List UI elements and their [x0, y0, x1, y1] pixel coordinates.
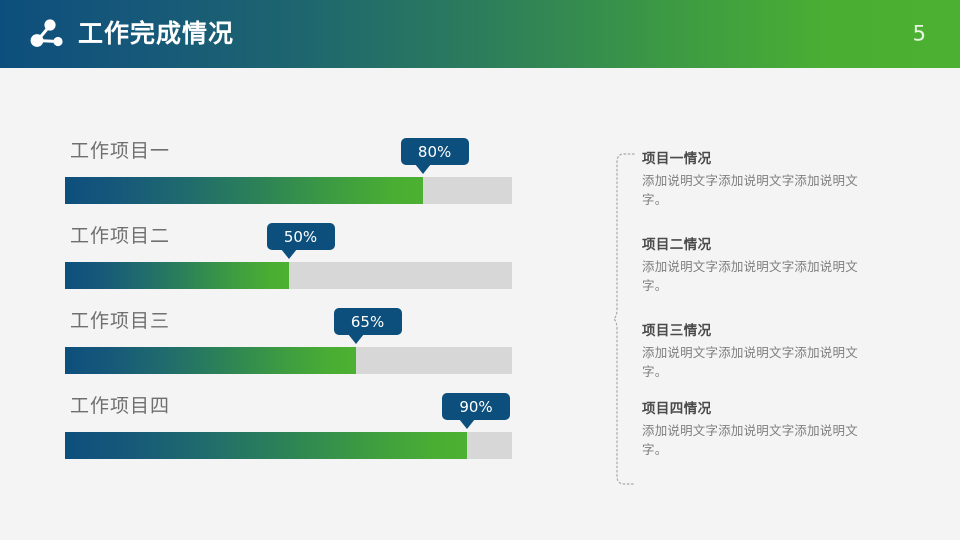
note-title: 项目四情况	[642, 402, 904, 417]
progress-bar-label: 工作项目一	[70, 142, 170, 161]
progress-bar-list: 工作项目一80%工作项目二50%工作项目三65%工作项目四90%	[65, 136, 512, 476]
note-body: 添加说明文字添加说明文字添加说明文字。	[642, 422, 882, 461]
note-item: 项目一情况添加说明文字添加说明文字添加说明文字。	[642, 152, 904, 211]
progress-value-badge-tail	[459, 419, 475, 429]
note-body: 添加说明文字添加说明文字添加说明文字。	[642, 258, 882, 297]
progress-value-badge-tail	[281, 249, 297, 259]
note-item: 项目三情况添加说明文字添加说明文字添加说明文字。	[642, 324, 904, 383]
page-number: 5	[913, 24, 926, 45]
progress-bar-fill	[65, 177, 423, 204]
progress-value-badge: 50%	[267, 223, 335, 250]
note-body: 添加说明文字添加说明文字添加说明文字。	[642, 172, 882, 211]
progress-bar-row: 工作项目三65%	[65, 306, 512, 391]
progress-value-badge-tail	[415, 164, 431, 174]
progress-value-badge: 65%	[334, 308, 402, 335]
progress-bar-fill	[65, 432, 467, 459]
progress-bar-row: 工作项目四90%	[65, 391, 512, 476]
progress-bar-label: 工作项目三	[70, 312, 170, 331]
progress-bar-row: 工作项目一80%	[65, 136, 512, 221]
note-title: 项目一情况	[642, 152, 904, 167]
note-body: 添加说明文字添加说明文字添加说明文字。	[642, 344, 882, 383]
progress-bar-label: 工作项目四	[70, 397, 170, 416]
network-nodes-icon	[26, 14, 66, 54]
progress-bar-track	[65, 262, 512, 289]
progress-value-badge: 90%	[442, 393, 510, 420]
slide-header: 工作完成情况 5	[0, 0, 960, 68]
progress-bar-track	[65, 347, 512, 374]
progress-bar-track	[65, 177, 512, 204]
progress-bar-fill	[65, 347, 356, 374]
note-item: 项目四情况添加说明文字添加说明文字添加说明文字。	[642, 402, 904, 461]
note-item: 项目二情况添加说明文字添加说明文字添加说明文字。	[642, 238, 904, 297]
progress-bar-track	[65, 432, 512, 459]
progress-value-badge: 80%	[401, 138, 469, 165]
note-title: 项目三情况	[642, 324, 904, 339]
progress-bar-row: 工作项目二50%	[65, 221, 512, 306]
progress-value-badge-tail	[348, 334, 364, 344]
page-title: 工作完成情况	[78, 22, 234, 47]
note-title: 项目二情况	[642, 238, 904, 253]
slide-canvas: 工作完成情况 5 工作项目一80%工作项目二50%工作项目三65%工作项目四90…	[0, 0, 960, 540]
progress-bar-fill	[65, 262, 289, 289]
progress-bar-label: 工作项目二	[70, 227, 170, 246]
curly-bracket-icon	[614, 152, 636, 486]
